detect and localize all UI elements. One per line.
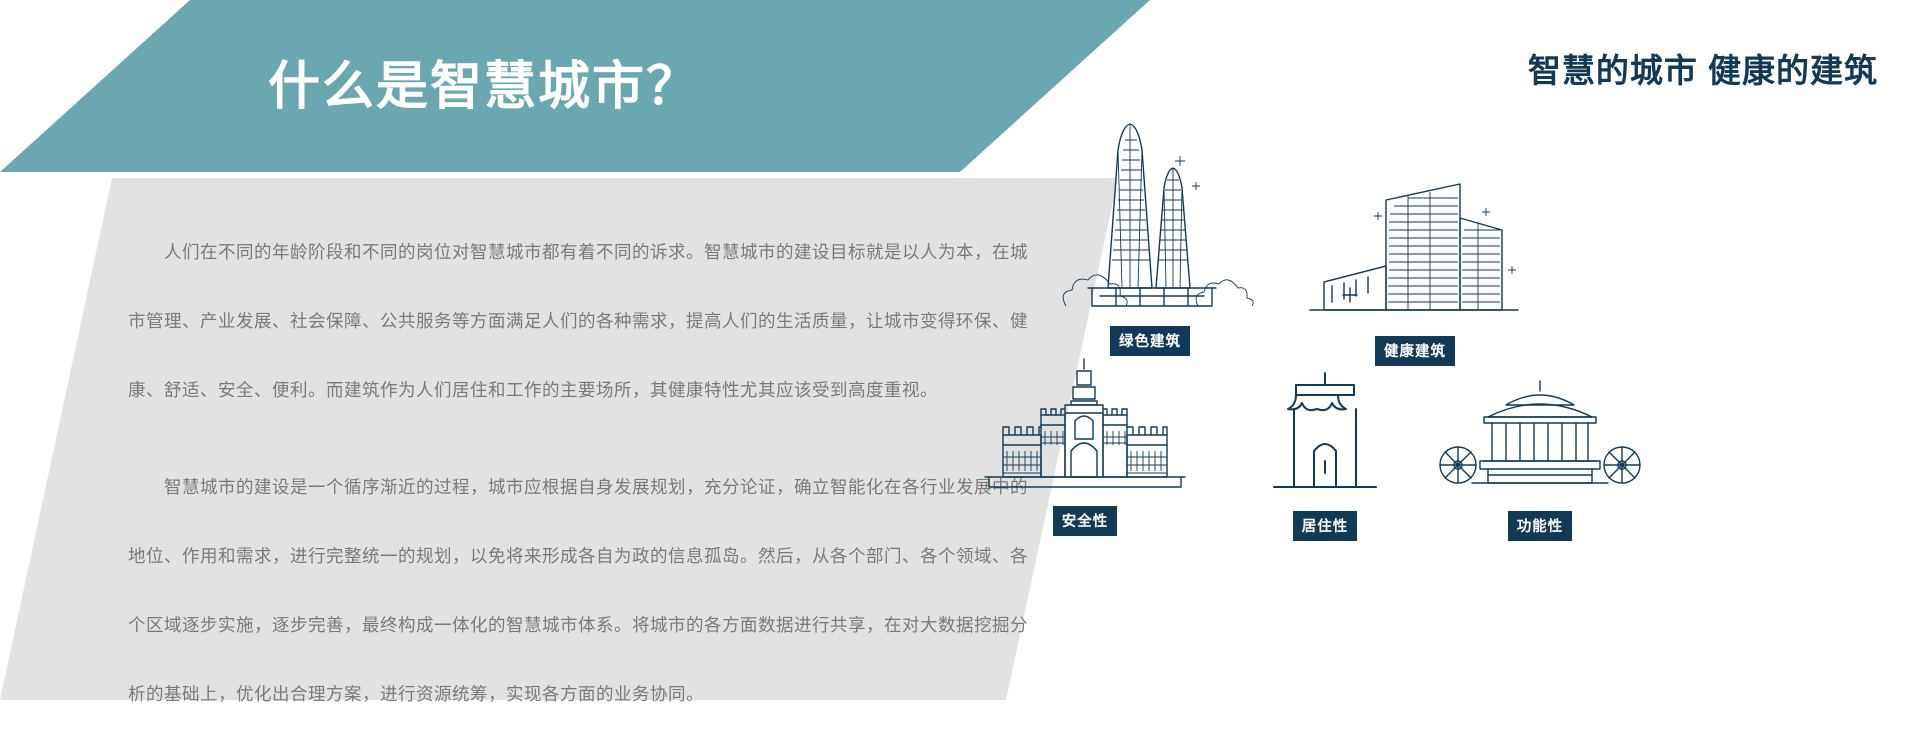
icon-card-healthy-building: 健康建筑 [1290, 178, 1540, 366]
pavilion-icon [1410, 365, 1670, 505]
page-title: 什么是智慧城市？ [268, 44, 700, 119]
badge-safety: 安全性 [1053, 506, 1118, 536]
house-tent-icon [1210, 365, 1440, 505]
badge-green-building: 绿色建筑 [1110, 326, 1190, 356]
icon-card-safety: 安全性 [945, 355, 1225, 536]
header-tagline: 智慧的城市 健康的建筑 [1528, 44, 1878, 92]
badge-functionality: 功能性 [1508, 511, 1573, 541]
castle-icon [945, 355, 1225, 500]
paragraph-1-text: 人们在不同的年龄阶段和不同的岗位对智慧城市都有着不同的诉求。智慧城市的建设目标就… [128, 242, 1028, 400]
paragraph-2: 智慧城市的建设是一个循序渐近的过程，城市应根据自身发展规划，充分论证，确立智能化… [128, 453, 1028, 729]
badge-livability: 居住性 [1293, 511, 1358, 541]
icon-card-green-building: 绿色建筑 [1030, 110, 1270, 356]
icon-gallery: 绿色建筑 [1020, 110, 1920, 670]
paragraph-2-text: 智慧城市的建设是一个循序渐近的过程，城市应根据自身发展规划，充分论证，确立智能化… [128, 477, 1028, 704]
badge-healthy-building: 健康建筑 [1375, 336, 1455, 366]
twin-towers-icon [1030, 110, 1270, 320]
paragraph-1: 人们在不同的年龄阶段和不同的岗位对智慧城市都有着不同的诉求。智慧城市的建设目标就… [128, 218, 1028, 425]
hospital-building-icon [1290, 178, 1540, 330]
article-body: 人们在不同的年龄阶段和不同的岗位对智慧城市都有着不同的诉求。智慧城市的建设目标就… [128, 218, 1028, 729]
icon-card-functionality: 功能性 [1410, 365, 1670, 541]
icon-card-livability: 居住性 [1210, 365, 1440, 541]
